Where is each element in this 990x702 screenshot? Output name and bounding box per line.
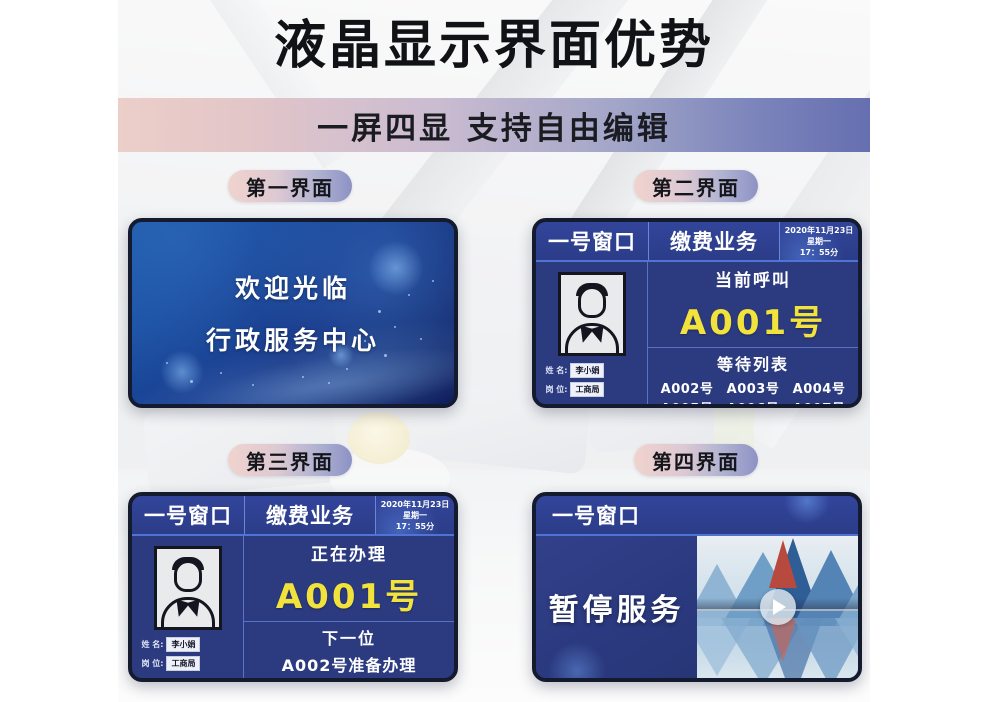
staff-avatar [558,272,626,356]
next-up-caption: 下一位 [322,625,376,649]
window-cell: 一号窗口 [132,496,244,534]
welcome-text-block: 欢迎光临 行政服务中心 [132,222,454,404]
welcome-line-1: 欢迎光临 [235,269,351,305]
waiting-item: A002号 [654,378,720,397]
processing-body: 姓 名: 李小娟 岗 位: 工商局 正在办理 A001号 [132,536,454,678]
time-text: 17：55分 [800,248,838,258]
play-triangle [773,599,786,615]
business-label: 缴费业务 [266,500,354,530]
badge-label: 第二界面 [652,172,740,201]
poster-content: 液晶显示界面优势 一屏四显 支持自由编辑 第一界面 第二界面 第三界面 第四界面 [118,0,870,702]
screen-paused[interactable]: 一号窗口 暂停服务 [532,492,862,682]
processing-root: 一号窗口 缴费业务 2020年11月23日 星期一 17：55分 [132,496,454,678]
avatar-head [174,560,202,592]
processing-area: 正在办理 A001号 [244,536,454,622]
waiting-item: A005号 [654,398,720,408]
staff-panel: 姓 名: 李小娟 岗 位: 工商局 [132,536,244,678]
video-mountain [835,562,858,626]
business-cell: 缴费业务 [648,222,779,260]
badge-second-interface: 第二界面 [634,170,758,202]
video-panel[interactable] [697,536,858,678]
current-call-caption: 当前呼叫 [715,266,791,291]
staff-info: 姓 名: 李小娟 岗 位: 工商局 [546,363,638,401]
paused-body: 暂停服务 [536,536,858,678]
poster-page: 液晶显示界面优势 一屏四显 支持自由编辑 第一界面 第二界面 第三界面 第四界面 [0,0,990,702]
paused-status-panel: 暂停服务 [536,536,697,678]
staff-name-value: 李小娟 [570,363,604,378]
staff-post-label: 岗 位: [142,658,164,669]
business-cell: 缴费业务 [244,496,375,534]
waiting-item: A007号 [786,398,852,408]
datetime-cell: 2020年11月23日 星期一 17：55分 [375,496,454,534]
waiting-list-caption: 等待列表 [717,351,789,375]
processing-main: 正在办理 A001号 下一位 A002号准备办理 [244,536,454,678]
staff-post-row: 岗 位: 工商局 [546,382,638,397]
badge-label: 第三界面 [246,446,334,475]
processing-caption: 正在办理 [311,540,387,565]
staff-post-label: 岗 位: [546,384,568,395]
subtitle-text: 一屏四显 支持自由编辑 [317,103,671,148]
welcome-line-2: 行政服务中心 [206,321,380,357]
panel-glow [548,642,606,682]
processing-number: A001号 [276,569,422,618]
staff-info: 姓 名: 李小娟 岗 位: 工商局 [142,637,234,675]
waiting-list-grid: A002号 A003号 A004号 A005号 A006号 A007号 [654,378,852,408]
window-label: 一号窗口 [552,500,640,530]
screen-welcome[interactable]: 欢迎光临 行政服务中心 [128,218,458,408]
window-label: 一号窗口 [548,226,636,256]
next-up-area: 下一位 A002号准备办理 [244,622,454,679]
avatar-head [578,286,606,318]
weekday-text: 星期一 [807,237,831,247]
window-cell: 一号窗口 [536,222,648,260]
paused-root: 一号窗口 暂停服务 [536,496,858,678]
subtitle-banner: 一屏四显 支持自由编辑 [118,98,870,152]
calling-root: 一号窗口 缴费业务 2020年11月23日 星期一 17：55分 [536,222,858,404]
waiting-item: A006号 [720,398,786,408]
staff-name-label: 姓 名: [546,365,568,376]
calling-main: 当前呼叫 A001号 等待列表 A002号 A003号 A004号 A005号 … [648,262,858,404]
welcome-background: 欢迎光临 行政服务中心 [132,222,454,404]
title-zone: 液晶显示界面优势 [118,0,870,96]
video-reflection [835,618,858,678]
waiting-item: A003号 [720,378,786,397]
badge-third-interface: 第三界面 [228,444,352,476]
badge-label: 第一界面 [246,172,334,201]
staff-avatar [154,546,222,630]
screen-calling[interactable]: 一号窗口 缴费业务 2020年11月23日 星期一 17：55分 [532,218,862,408]
badge-fourth-interface: 第四界面 [634,444,758,476]
date-text: 2020年11月23日 [785,226,854,236]
staff-post-value: 工商局 [166,656,200,671]
calling-header: 一号窗口 缴费业务 2020年11月23日 星期一 17：55分 [536,222,858,262]
play-icon[interactable] [760,589,796,625]
header-glow [784,496,830,524]
calling-body: 姓 名: 李小娟 岗 位: 工商局 当前呼叫 A001号 [536,262,858,404]
current-call-number: A001号 [680,295,826,344]
waiting-list-area: 等待列表 A002号 A003号 A004号 A005号 A006号 A007号 [648,348,858,408]
window-label: 一号窗口 [144,500,232,530]
paused-header: 一号窗口 [536,496,858,536]
waiting-item: A004号 [786,378,852,397]
datetime-cell: 2020年11月23日 星期一 17：55分 [779,222,858,260]
staff-name-value: 李小娟 [166,637,200,652]
staff-name-label: 姓 名: [142,639,164,650]
screen-processing[interactable]: 一号窗口 缴费业务 2020年11月23日 星期一 17：55分 [128,492,458,682]
next-up-number: A002号准备办理 [282,652,417,676]
staff-post-row: 岗 位: 工商局 [142,656,234,671]
badge-label: 第四界面 [652,446,740,475]
paused-status-text: 暂停服务 [549,585,685,629]
date-text: 2020年11月23日 [381,500,450,510]
badge-first-interface: 第一界面 [228,170,352,202]
page-title: 液晶显示界面优势 [118,14,870,78]
processing-header: 一号窗口 缴费业务 2020年11月23日 星期一 17：55分 [132,496,454,536]
staff-name-row: 姓 名: 李小娟 [546,363,638,378]
current-call-area: 当前呼叫 A001号 [648,262,858,348]
time-text: 17：55分 [396,522,434,532]
staff-post-value: 工商局 [570,382,604,397]
staff-panel: 姓 名: 李小娟 岗 位: 工商局 [536,262,648,404]
staff-name-row: 姓 名: 李小娟 [142,637,234,652]
business-label: 缴费业务 [670,226,758,256]
weekday-text: 星期一 [403,511,427,521]
